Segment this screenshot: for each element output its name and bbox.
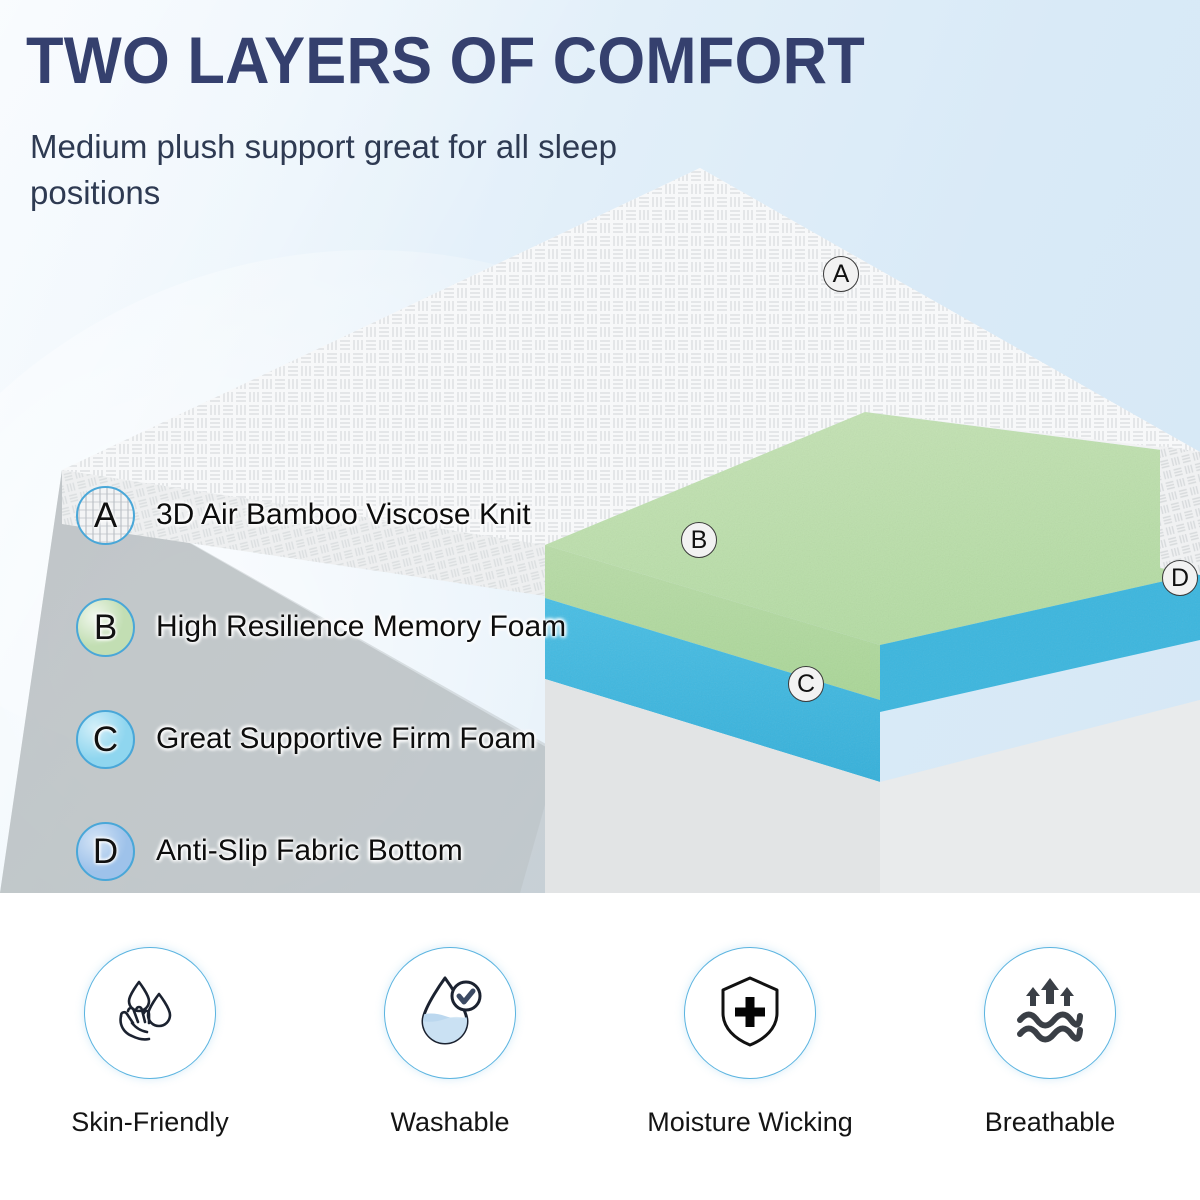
legend-label-d: Anti-Slip Fabric Bottom bbox=[156, 827, 463, 875]
legend-item-a: A 3D Air Bamboo Viscose Knit bbox=[76, 486, 696, 598]
water-drop-check-icon bbox=[407, 968, 493, 1059]
feature-label: Moisture Wicking bbox=[647, 1107, 853, 1138]
legend-label-c: Great Supportive Firm Foam bbox=[156, 715, 536, 763]
marker-d-anti-slip-bottom: D bbox=[1162, 560, 1198, 596]
shield-plus-icon bbox=[707, 968, 793, 1059]
legend-badge-b: B bbox=[76, 598, 135, 657]
legend-label-b: High Resilience Memory Foam bbox=[156, 603, 566, 651]
marker-c-firm-foam: C bbox=[788, 666, 824, 702]
legend-item-b: B High Resilience Memory Foam bbox=[76, 598, 696, 710]
feature-icon-circle bbox=[684, 947, 816, 1079]
feature-washable: Washable bbox=[300, 893, 600, 1138]
feature-label: Washable bbox=[390, 1107, 509, 1138]
feature-strip: Skin-Friendly bbox=[0, 893, 1200, 1200]
legend-badge-d: D bbox=[76, 822, 135, 881]
marker-a-knit-top: A bbox=[823, 256, 859, 292]
infographic-root: A B C D TWO LAYERS OF COMFORT Medium plu… bbox=[0, 0, 1200, 1200]
feature-label: Breathable bbox=[985, 1107, 1116, 1138]
feature-moisture-wicking: Moisture Wicking bbox=[600, 893, 900, 1138]
feature-icon-circle bbox=[984, 947, 1116, 1079]
layer-legend: A 3D Air Bamboo Viscose Knit B High Resi… bbox=[76, 486, 696, 893]
legend-item-c: C Great Supportive Firm Foam bbox=[76, 710, 696, 822]
hand-water-drops-icon bbox=[107, 968, 193, 1059]
feature-skin-friendly: Skin-Friendly bbox=[0, 893, 300, 1138]
mattress-right-knit-column bbox=[1160, 446, 1200, 575]
legend-badge-a: A bbox=[76, 486, 135, 545]
feature-icon-circle bbox=[384, 947, 516, 1079]
legend-item-d: D Anti-Slip Fabric Bottom bbox=[76, 822, 696, 893]
legend-label-a: 3D Air Bamboo Viscose Knit bbox=[156, 491, 531, 539]
page-title: TWO LAYERS OF COMFORT bbox=[26, 27, 865, 93]
feature-icon-circle bbox=[84, 947, 216, 1079]
page-subtitle: Medium plush support great for all sleep… bbox=[30, 124, 670, 216]
legend-badge-c: C bbox=[76, 710, 135, 769]
hero-panel: A B C D TWO LAYERS OF COMFORT Medium plu… bbox=[0, 0, 1200, 893]
arrows-over-waves-icon bbox=[1007, 968, 1093, 1059]
feature-label: Skin-Friendly bbox=[71, 1107, 229, 1138]
feature-breathable: Breathable bbox=[900, 893, 1200, 1138]
